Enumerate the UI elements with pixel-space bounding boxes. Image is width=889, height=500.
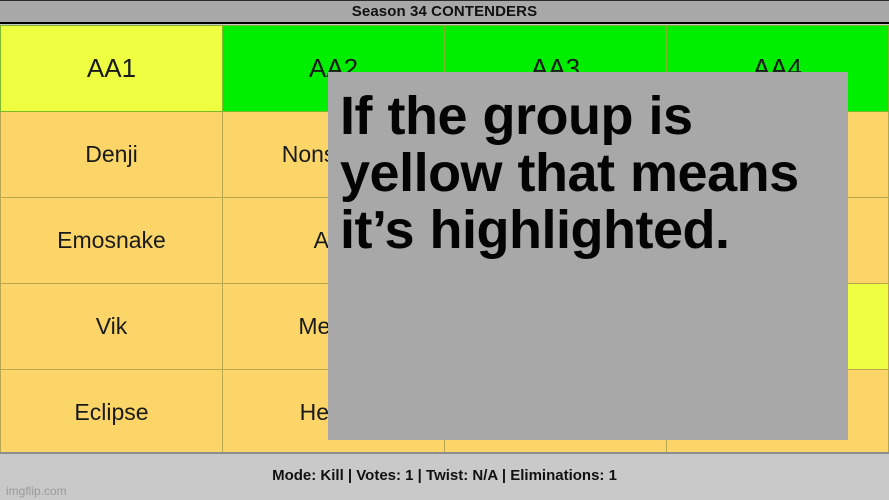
page-title: Season 34 CONTENDERS <box>352 4 537 19</box>
column-header-1: AA1 <box>1 26 223 112</box>
caption-text: If the group is yellow that means it’s h… <box>340 88 834 260</box>
table-cell: Denji <box>1 112 223 198</box>
imgflip-watermark: imgflip.com <box>6 485 67 497</box>
table-cell: Emosnake <box>1 198 223 284</box>
table-cell: Eclipse <box>1 370 223 456</box>
table-cell: Vik <box>1 284 223 370</box>
title-bar: Season 34 CONTENDERS <box>0 0 889 24</box>
caption-overlay: If the group is yellow that means it’s h… <box>328 72 848 440</box>
status-bar: Mode: Kill | Votes: 1 | Twist: N/A | Eli… <box>0 452 889 500</box>
meme-screenshot: Season 34 CONTENDERS AA1 AA2 AA3 AA4 Den… <box>0 0 889 500</box>
status-text: Mode: Kill | Votes: 1 | Twist: N/A | Eli… <box>272 468 617 483</box>
